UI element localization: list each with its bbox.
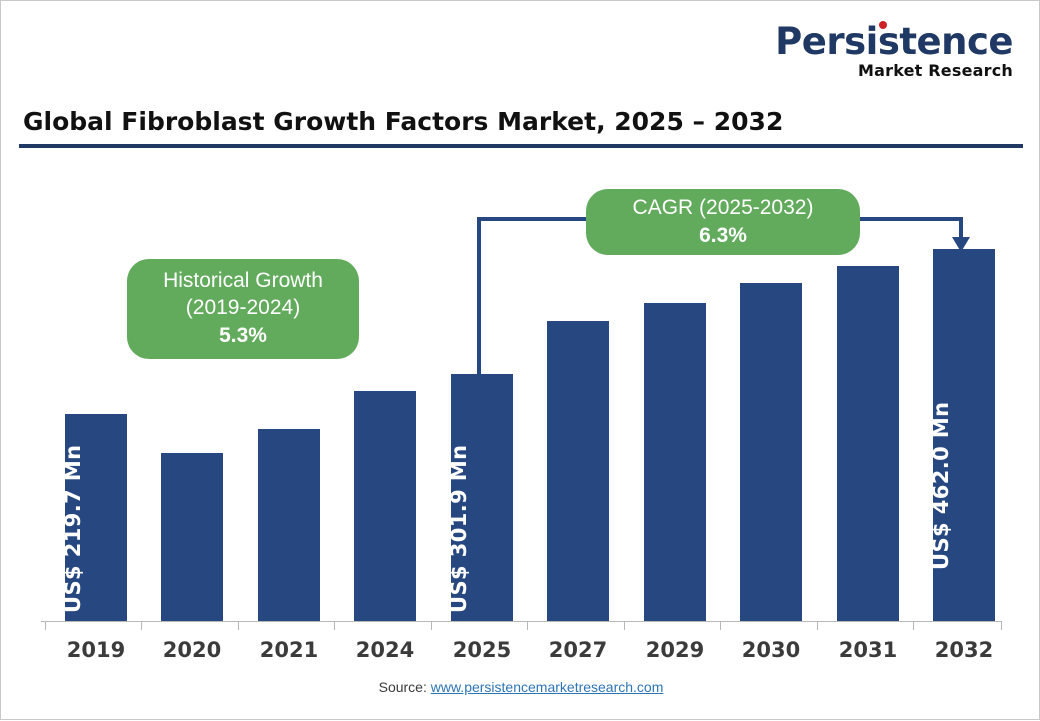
cagr-callout: CAGR (2025-2032) 6.3%: [586, 189, 860, 255]
chart-page: Persistence Market Research Global Fibro…: [0, 0, 1040, 720]
historical-growth-callout: Historical Growth (2019-2024) 5.3%: [127, 259, 359, 359]
historical-growth-title: Historical Growth: [163, 268, 323, 295]
cagr-value: 6.3%: [699, 222, 747, 249]
cagr-connector: [1, 1, 1040, 721]
historical-growth-value: 5.3%: [219, 322, 267, 349]
cagr-title: CAGR (2025-2032): [633, 195, 814, 222]
bar-chart: US$ 219.7 Mn US$ 301.9 Mn US$ 462.0 Mn 2…: [1, 1, 1040, 721]
historical-growth-period: (2019-2024): [186, 295, 300, 322]
